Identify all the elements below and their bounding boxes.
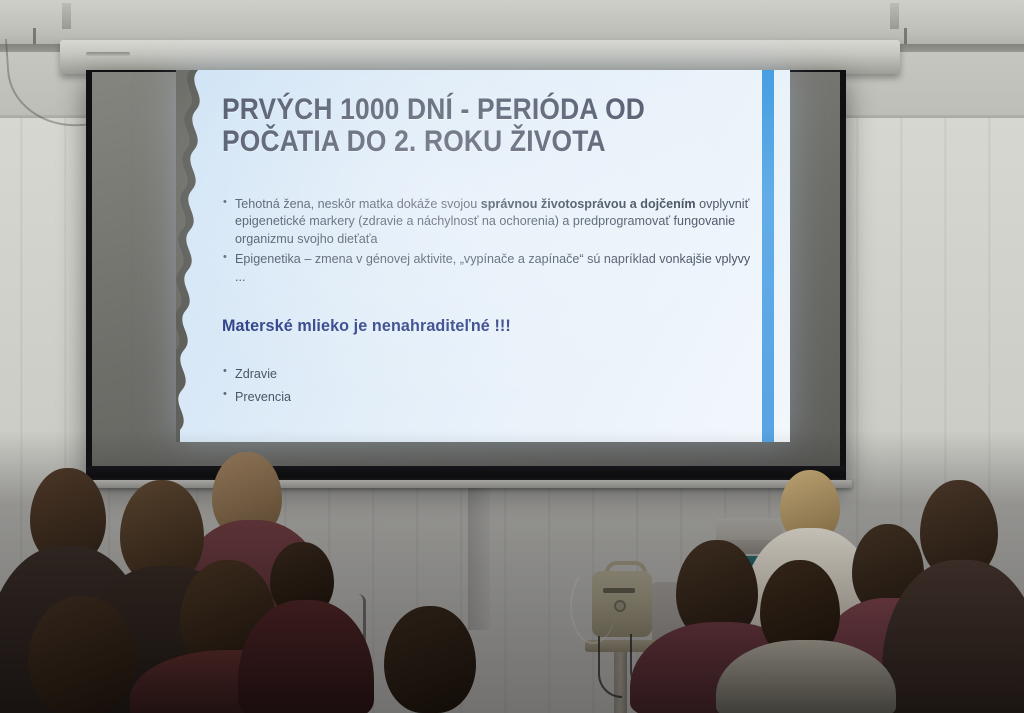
slide-title: PRVÝCH 1000 DNÍ - PERIÓDA OD POČATIA DO … <box>222 94 692 159</box>
roller-vent-icon <box>86 52 130 56</box>
slide-wavy-left-edge-icon <box>176 70 216 442</box>
slide-headline: Materské mlieko je nenahraditeľné !!! <box>222 316 511 336</box>
projection-screen-roller[interactable] <box>60 40 900 74</box>
slide-accent-stripe <box>762 70 774 442</box>
list-item: Prevencia <box>222 387 291 407</box>
list-item: Epigenetika – zmena v génovej aktivite, … <box>222 251 752 286</box>
slide-title-line-1: PRVÝCH 1000 DNÍ - PERIÓDA OD <box>222 93 645 126</box>
slide-title-line-2: POČATIA DO 2. ROKU ŽIVOTA <box>222 126 692 158</box>
list-item: Tehotná žena, neskôr matka dokáže svojou… <box>222 196 752 248</box>
slide-right-margin <box>774 70 790 442</box>
list-item: Zdravie <box>222 364 291 384</box>
roller-bracket-left <box>33 28 36 44</box>
bullet-text-pre: Epigenetika – zmena v génovej aktivite, … <box>235 252 750 283</box>
slide-bullet-list-secondary: Zdravie Prevencia <box>222 364 291 411</box>
projected-slide: PRVÝCH 1000 DNÍ - PERIÓDA OD POČATIA DO … <box>176 70 790 442</box>
slide-bullet-list: Tehotná žena, neskôr matka dokáže svojou… <box>222 196 752 289</box>
photo-scene: PRVÝCH 1000 DNÍ - PERIÓDA OD POČATIA DO … <box>0 0 1024 713</box>
roller-bracket-right <box>904 28 907 44</box>
roller-end-cap-left <box>62 3 71 29</box>
projection-screen-weight-bar[interactable] <box>80 480 852 488</box>
roller-end-cap-right <box>890 3 899 29</box>
bullet-text-bold: správnou životosprávou a dojčením <box>481 197 696 211</box>
slide-content: PRVÝCH 1000 DNÍ - PERIÓDA OD POČATIA DO … <box>220 70 756 442</box>
bullet-text-pre: Tehotná žena, neskôr matka dokáže svojou <box>235 197 481 211</box>
